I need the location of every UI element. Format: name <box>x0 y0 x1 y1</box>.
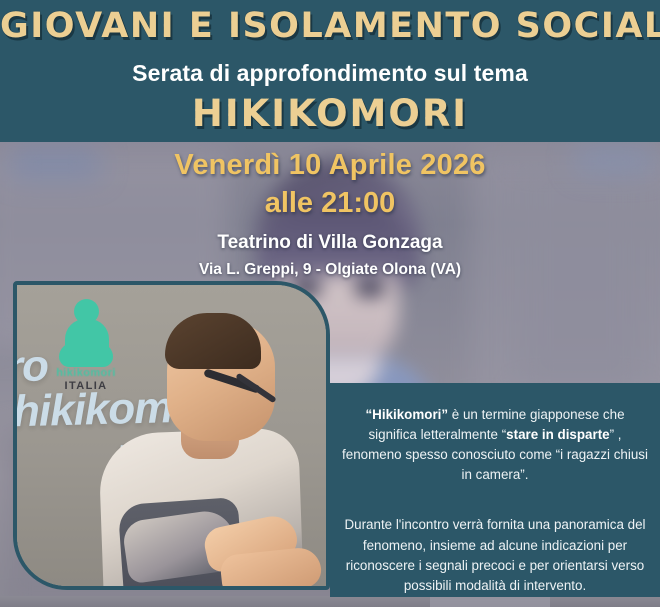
poster-subtitle: Serata di approfondimento sul tema <box>0 60 660 87</box>
definition-paragraph: “Hikikomori” è un termine giapponese che… <box>342 405 648 485</box>
event-venue: Teatrino di Villa Gonzaga <box>0 231 660 256</box>
slide-text-line-1: ro <box>17 341 48 391</box>
poster-keyword-title: HIKIKOMORI <box>0 92 660 135</box>
event-time: alle 21:00 <box>0 186 660 220</box>
definition-literal: stare in disparte <box>506 427 609 442</box>
page-title: GIOVANI E ISOLAMENTO SOCIALE <box>0 6 660 46</box>
poster-header-band: GIOVANI E ISOLAMENTO SOCIALE Serata di a… <box>0 0 660 142</box>
event-details-block: Venerdì 10 Aprile 2026 alle 21:00 Teatri… <box>0 148 660 279</box>
event-poster: GIOVANI E ISOLAMENTO SOCIALE Serata di a… <box>0 0 660 607</box>
event-address: Via L. Greppi, 9 - Olgiate Olona (VA) <box>0 261 660 279</box>
speaker-photo-card: hikikomori ITALIA ro hikikom utti <box>13 281 330 590</box>
speaker-figure <box>95 303 326 586</box>
definition-term: “Hikikomori” <box>365 407 448 422</box>
speaker-photo: hikikomori ITALIA ro hikikom utti <box>17 285 326 586</box>
bottom-background-strip <box>0 596 660 607</box>
description-paragraph: Durante l'incontro verrà fornita una pan… <box>342 515 648 595</box>
event-date: Venerdì 10 Aprile 2026 <box>0 148 660 182</box>
info-text-panel: “Hikikomori” è un termine giapponese che… <box>330 383 660 597</box>
